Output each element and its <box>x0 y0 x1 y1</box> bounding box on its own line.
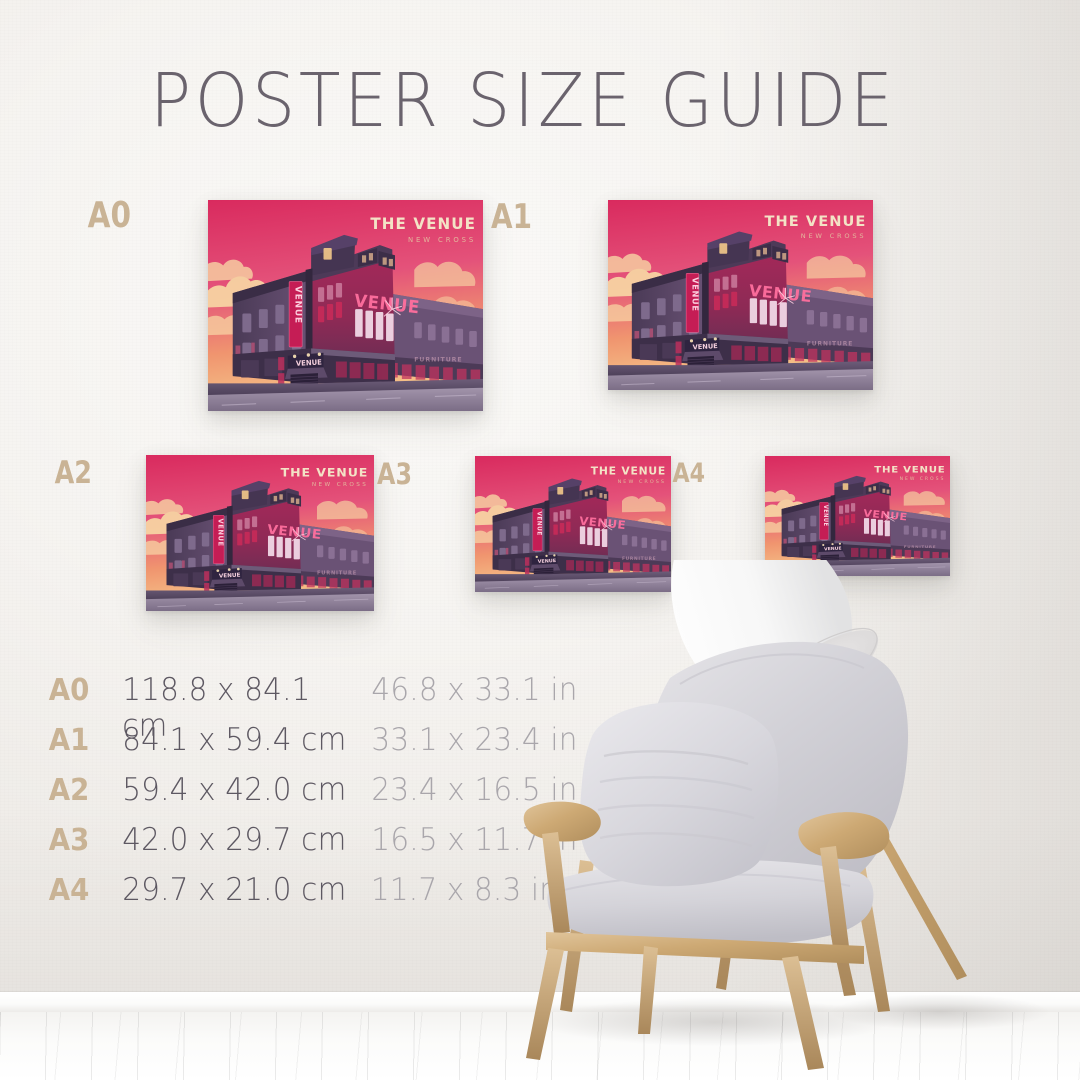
svg-text:FURNITURE: FURNITURE <box>904 544 936 549</box>
poster-a1[interactable]: FURNITURE <box>608 200 873 390</box>
table-row: A259.4 x 42.0 cm23.4 x 16.5 in <box>46 772 583 822</box>
furniture-group <box>520 560 1080 1080</box>
svg-text:NEW CROSS: NEW CROSS <box>312 482 368 488</box>
svg-text:VENUE: VENUE <box>293 286 303 324</box>
poster-size-label-a1: A1 <box>483 200 532 234</box>
svg-text:NEW CROSS: NEW CROSS <box>900 476 946 482</box>
poster-size-guide-scene: POSTER SIZE GUIDE <box>0 0 1080 1080</box>
poster-size-label-a0: A0 <box>82 198 131 234</box>
svg-text:VENUE: VENUE <box>822 505 828 527</box>
table-row: A0118.8 x 84.1 cm46.8 x 33.1 in <box>46 672 583 722</box>
poster-size-label-a3: A3 <box>363 460 412 489</box>
table-row: A342.0 x 29.7 cm16.5 x 11.7 in <box>46 822 583 872</box>
poster-size-label-a4: A4 <box>656 460 705 487</box>
svg-text:FURNITURE: FURNITURE <box>317 571 357 577</box>
chair-floor-shadow <box>540 998 890 1046</box>
lamp-floor-shadow <box>830 994 1050 1030</box>
svg-text:NEW CROSS: NEW CROSS <box>801 232 867 240</box>
poster-artwork-a1: FURNITURE <box>608 200 873 390</box>
size-cm: 84.1 x 59.4 cm <box>122 722 360 758</box>
svg-text:FURNITURE: FURNITURE <box>414 355 462 363</box>
chair-front-leg-left <box>526 948 564 1060</box>
poster-a2[interactable]: FURNITURE <box>146 455 374 611</box>
poster-artwork-a4: FURNITURE <box>765 456 950 576</box>
svg-text:VENUE: VENUE <box>692 342 718 351</box>
poster-a4[interactable]: FURNITURE <box>765 456 950 576</box>
poster-size-label-a2: A2 <box>43 458 92 489</box>
size-code: A4 <box>49 873 113 908</box>
svg-text:THE VENUE: THE VENUE <box>370 215 476 234</box>
table-row: A184.1 x 59.4 cm33.1 x 23.4 in <box>46 722 583 772</box>
svg-text:THE VENUE: THE VENUE <box>874 465 945 475</box>
poster-artwork-a0: FURNITURE <box>208 200 483 411</box>
size-code: A2 <box>49 773 113 808</box>
size-cm: 29.7 x 21.0 cm <box>122 872 360 908</box>
svg-text:THE VENUE: THE VENUE <box>281 466 369 480</box>
svg-text:VENUE: VENUE <box>690 277 700 311</box>
svg-text:VENUE: VENUE <box>219 573 241 580</box>
size-cm: 59.4 x 42.0 cm <box>122 772 360 808</box>
size-table: A0118.8 x 84.1 cm46.8 x 33.1 inA184.1 x … <box>46 672 583 922</box>
poster-artwork-a2: FURNITURE <box>146 455 374 611</box>
svg-text:VENUE: VENUE <box>296 357 323 368</box>
poster-a0[interactable]: FURNITURE <box>208 200 483 411</box>
size-code: A3 <box>49 823 113 858</box>
svg-text:NEW CROSS: NEW CROSS <box>408 235 476 244</box>
svg-text:THE VENUE: THE VENUE <box>765 214 867 230</box>
size-cm: 42.0 x 29.7 cm <box>122 822 360 858</box>
chair-arm-left <box>524 802 601 842</box>
svg-text:THE VENUE: THE VENUE <box>591 466 666 478</box>
table-row: A429.7 x 21.0 cm11.7 x 8.3 in <box>46 872 583 922</box>
svg-text:VENUE: VENUE <box>535 511 542 536</box>
cushion <box>580 702 779 886</box>
size-code: A0 <box>49 673 113 708</box>
svg-text:FURNITURE: FURNITURE <box>807 341 853 347</box>
svg-text:VENUE: VENUE <box>217 518 225 546</box>
page-title: POSTER SIZE GUIDE <box>150 58 886 144</box>
size-code: A1 <box>49 723 113 758</box>
